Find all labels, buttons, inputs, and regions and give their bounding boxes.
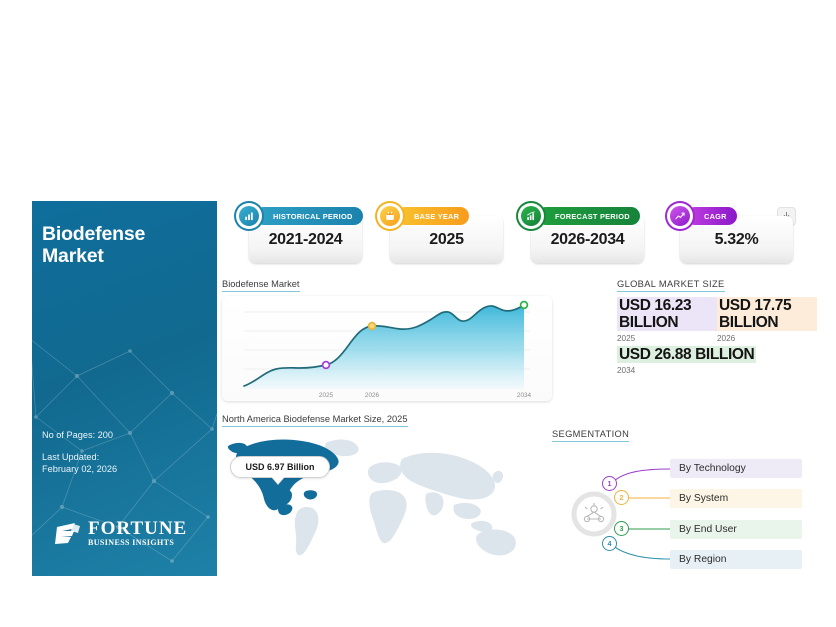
badge-value: 5.32% [680, 231, 793, 249]
badge-value: 2026-2034 [531, 231, 644, 249]
segmentation-item-by-end-user[interactable]: By End User [670, 520, 802, 539]
market-size-amount: USD 16.23 BILLION [617, 297, 717, 331]
badge-icon-ring [377, 203, 403, 229]
report-meta: No of Pages: 200 Last Updated: February … [42, 429, 212, 476]
page-title: Biodefense Market [42, 223, 210, 267]
trend-line-icon [674, 210, 686, 222]
growth-chart-icon [525, 210, 537, 222]
infographic-card: Biodefense Market No of Pages: 200 Last … [32, 201, 804, 576]
segmentation-number-text: 1 [608, 479, 612, 488]
segmentation-item-label: By Region [679, 554, 727, 565]
chart-marker-2025 [323, 362, 330, 369]
x-tick-2034: 2034 [517, 392, 532, 399]
badge-icon-ring [236, 203, 262, 229]
segmentation-number-4: 4 [602, 536, 617, 551]
calendar-icon [384, 210, 396, 222]
segmentation-number-text: 3 [620, 524, 624, 533]
segmentation-number-text: 2 [620, 493, 624, 502]
logo-secondary-text: BUSINESS INSIGHTS [88, 539, 187, 547]
kpi-badges-row: HISTORICAL PERIOD 2021-2024 [234, 207, 794, 269]
market-size-amount: USD 26.88 BILLION [617, 346, 756, 363]
pages-count: No of Pages: 200 [42, 429, 212, 442]
map-callout: USD 6.97 Billion [230, 456, 330, 478]
chart-marker-2034 [521, 302, 528, 309]
segmentation-number-2: 2 [614, 490, 629, 505]
market-size-2034: USD 26.88 BILLION 2034 [617, 346, 817, 375]
connector-1 [610, 469, 670, 485]
market-size-2026: USD 17.75 BILLION 2026 [717, 297, 817, 343]
bar-chart-icon [243, 210, 255, 222]
map-heading: North America Biodefense Market Size, 20… [222, 414, 408, 427]
market-trend-chart: 2025 2026 2034 [222, 296, 552, 401]
segmentation-number-text: 4 [608, 539, 612, 548]
badge-value: 2025 [390, 231, 503, 249]
badge-icon-ring [518, 203, 544, 229]
market-size-2025: USD 16.23 BILLION 2025 [617, 297, 717, 343]
badge-label: HISTORICAL PERIOD [255, 207, 363, 225]
last-updated-value: February 02, 2026 [42, 463, 212, 476]
area-chart-svg: 2025 2026 2034 [222, 296, 552, 401]
market-size-year: 2025 [617, 334, 717, 343]
fortune-business-insights-logo: FORTUNE BUSINESS INSIGHTS [55, 517, 200, 549]
screenshot-canvas: Biodefense Market No of Pages: 200 Last … [0, 0, 836, 627]
segmentation-diagram: 1 By Technology 2 By System 3 By End Use… [552, 445, 802, 575]
segmentation-item-by-system[interactable]: By System [670, 489, 802, 508]
last-updated-label: Last Updated: [42, 451, 212, 464]
segmentation-number-1: 1 [602, 476, 617, 491]
segmentation-item-by-technology[interactable]: By Technology [670, 459, 802, 478]
badge-forecast-period[interactable]: FORECAST PERIOD 2026-2034 [516, 207, 652, 267]
world-map: USD 6.97 Billion [222, 431, 552, 571]
segmentation-hub-ring [574, 494, 614, 534]
x-tick-2026: 2026 [365, 392, 380, 399]
sidebar-panel: Biodefense Market No of Pages: 200 Last … [32, 201, 217, 576]
badge-cagr[interactable]: CAGR 5.32% [665, 207, 793, 267]
content-panel: HISTORICAL PERIOD 2021-2024 [217, 201, 804, 576]
badge-value: 2021-2024 [249, 231, 362, 249]
global-market-size-heading: GLOBAL MARKET SIZE [617, 279, 725, 292]
world-map-svg [222, 431, 552, 571]
badge-label: CAGR [686, 207, 737, 225]
chart-heading: Biodefense Market [222, 279, 300, 292]
badge-label: BASE YEAR [396, 207, 469, 225]
segmentation-item-label: By System [679, 493, 728, 504]
connector-4 [610, 543, 670, 559]
chart-marker-2026 [369, 323, 376, 330]
badge-label: FORECAST PERIOD [537, 207, 640, 225]
segmentation-heading: SEGMENTATION [552, 429, 629, 442]
market-size-amount: USD 17.75 BILLION [717, 297, 817, 331]
logo-primary-text: FORTUNE [88, 519, 187, 538]
map-callout-value: USD 6.97 Billion [245, 462, 314, 472]
badge-base-year[interactable]: BASE YEAR 2025 [375, 207, 503, 267]
market-size-year: 2026 [717, 334, 817, 343]
market-size-year: 2034 [617, 366, 817, 375]
segmentation-item-label: By End User [679, 524, 737, 535]
fb-logo-mark-icon [55, 521, 82, 546]
segmentation-number-3: 3 [614, 521, 629, 536]
segmentation-item-by-region[interactable]: By Region [670, 550, 802, 569]
x-tick-2025: 2025 [319, 392, 334, 399]
badge-icon-ring [667, 203, 693, 229]
chart-area-fill [244, 305, 524, 389]
segmentation-item-label: By Technology [679, 463, 746, 474]
badge-historical-period[interactable]: HISTORICAL PERIOD 2021-2024 [234, 207, 362, 267]
